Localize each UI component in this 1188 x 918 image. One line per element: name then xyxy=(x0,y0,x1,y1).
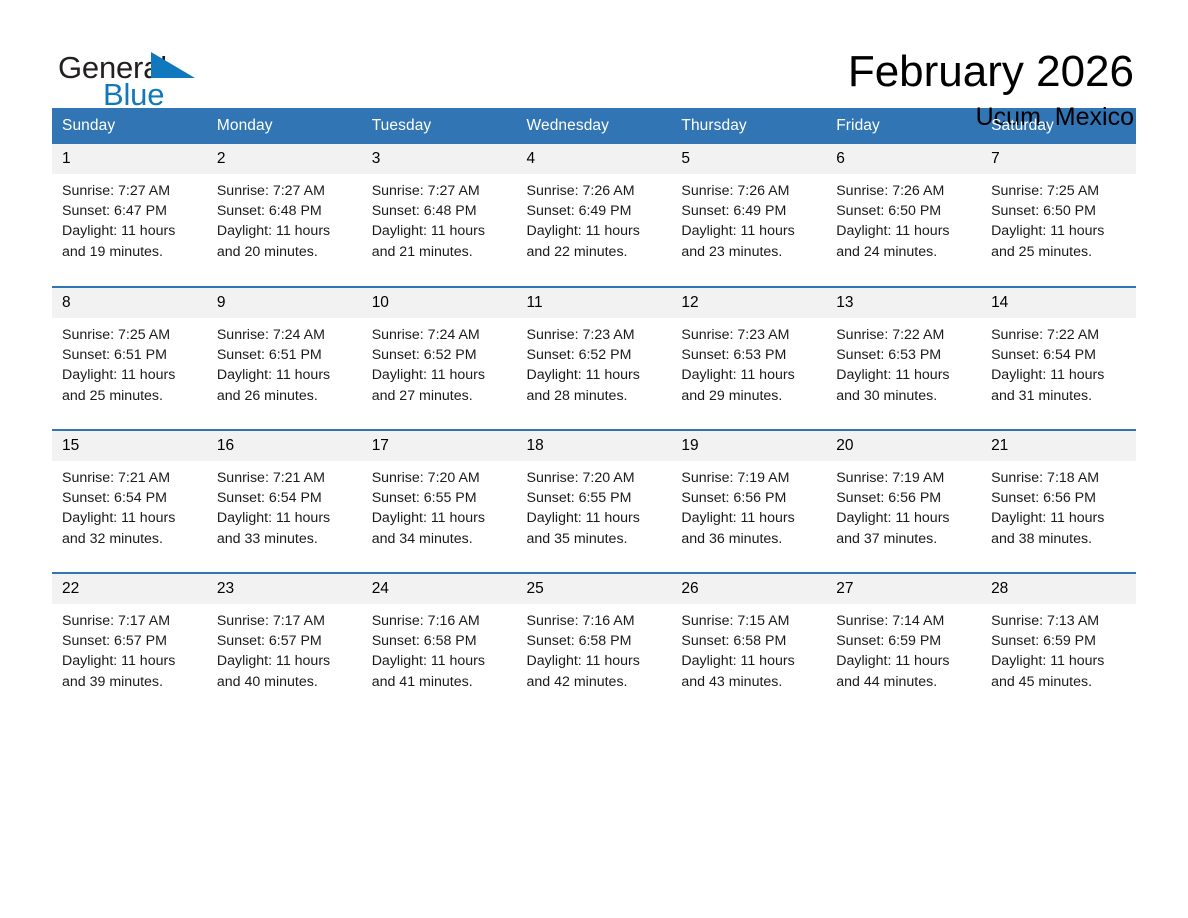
sunrise-text: Sunrise: 7:16 AM xyxy=(527,611,664,631)
daylight-text-line2: and 35 minutes. xyxy=(527,529,664,549)
day-cell[interactable]: 20 Sunrise: 7:19 AM Sunset: 6:56 PM Dayl… xyxy=(826,430,981,573)
sunset-text: Sunset: 6:48 PM xyxy=(372,201,509,221)
day-details: Sunrise: 7:27 AM Sunset: 6:48 PM Dayligh… xyxy=(207,174,362,262)
day-number: 21 xyxy=(981,431,1136,461)
day-cell[interactable]: 22 Sunrise: 7:17 AM Sunset: 6:57 PM Dayl… xyxy=(52,573,207,716)
day-details: Sunrise: 7:21 AM Sunset: 6:54 PM Dayligh… xyxy=(52,461,207,549)
sunrise-text: Sunrise: 7:22 AM xyxy=(836,325,973,345)
daylight-text-line1: Daylight: 11 hours xyxy=(527,221,664,241)
daylight-text-line2: and 31 minutes. xyxy=(991,386,1128,406)
sunrise-text: Sunrise: 7:17 AM xyxy=(217,611,354,631)
sunrise-text: Sunrise: 7:21 AM xyxy=(217,468,354,488)
daylight-text-line1: Daylight: 11 hours xyxy=(217,365,354,385)
day-number: 15 xyxy=(52,431,207,461)
day-details: Sunrise: 7:26 AM Sunset: 6:49 PM Dayligh… xyxy=(517,174,672,262)
day-cell[interactable]: 4 Sunrise: 7:26 AM Sunset: 6:49 PM Dayli… xyxy=(517,144,672,287)
day-details: Sunrise: 7:19 AM Sunset: 6:56 PM Dayligh… xyxy=(671,461,826,549)
sunset-text: Sunset: 6:55 PM xyxy=(372,488,509,508)
daylight-text-line2: and 40 minutes. xyxy=(217,672,354,692)
sunset-text: Sunset: 6:54 PM xyxy=(62,488,199,508)
sunrise-text: Sunrise: 7:25 AM xyxy=(62,325,199,345)
day-number: 6 xyxy=(826,144,981,174)
daylight-text-line2: and 25 minutes. xyxy=(991,242,1128,262)
day-number: 10 xyxy=(362,288,517,318)
sunset-text: Sunset: 6:57 PM xyxy=(217,631,354,651)
day-details: Sunrise: 7:20 AM Sunset: 6:55 PM Dayligh… xyxy=(517,461,672,549)
daylight-text-line1: Daylight: 11 hours xyxy=(836,365,973,385)
sunrise-text: Sunrise: 7:26 AM xyxy=(836,181,973,201)
day-details: Sunrise: 7:23 AM Sunset: 6:53 PM Dayligh… xyxy=(671,318,826,406)
day-cell[interactable]: 12 Sunrise: 7:23 AM Sunset: 6:53 PM Dayl… xyxy=(671,287,826,430)
sunset-text: Sunset: 6:56 PM xyxy=(836,488,973,508)
sunset-text: Sunset: 6:53 PM xyxy=(681,345,818,365)
sunrise-text: Sunrise: 7:24 AM xyxy=(372,325,509,345)
daylight-text-line2: and 21 minutes. xyxy=(372,242,509,262)
day-details: Sunrise: 7:17 AM Sunset: 6:57 PM Dayligh… xyxy=(52,604,207,692)
sunset-text: Sunset: 6:56 PM xyxy=(991,488,1128,508)
daylight-text-line1: Daylight: 11 hours xyxy=(991,651,1128,671)
day-cell[interactable]: 6 Sunrise: 7:26 AM Sunset: 6:50 PM Dayli… xyxy=(826,144,981,287)
sunrise-text: Sunrise: 7:26 AM xyxy=(681,181,818,201)
daylight-text-line2: and 24 minutes. xyxy=(836,242,973,262)
day-number: 13 xyxy=(826,288,981,318)
day-number: 26 xyxy=(671,574,826,604)
day-cell[interactable]: 13 Sunrise: 7:22 AM Sunset: 6:53 PM Dayl… xyxy=(826,287,981,430)
daylight-text-line1: Daylight: 11 hours xyxy=(62,221,199,241)
day-number: 24 xyxy=(362,574,517,604)
sunrise-text: Sunrise: 7:27 AM xyxy=(372,181,509,201)
daylight-text-line2: and 19 minutes. xyxy=(62,242,199,262)
day-details: Sunrise: 7:22 AM Sunset: 6:54 PM Dayligh… xyxy=(981,318,1136,406)
sunrise-text: Sunrise: 7:18 AM xyxy=(991,468,1128,488)
sunset-text: Sunset: 6:49 PM xyxy=(527,201,664,221)
daylight-text-line1: Daylight: 11 hours xyxy=(372,508,509,528)
day-cell[interactable]: 17 Sunrise: 7:20 AM Sunset: 6:55 PM Dayl… xyxy=(362,430,517,573)
daylight-text-line1: Daylight: 11 hours xyxy=(372,365,509,385)
day-cell[interactable]: 26 Sunrise: 7:15 AM Sunset: 6:58 PM Dayl… xyxy=(671,573,826,716)
day-details: Sunrise: 7:20 AM Sunset: 6:55 PM Dayligh… xyxy=(362,461,517,549)
day-cell[interactable]: 5 Sunrise: 7:26 AM Sunset: 6:49 PM Dayli… xyxy=(671,144,826,287)
page-masthead: General Blue February 2026 Ucum, Mexico xyxy=(52,0,1136,96)
daylight-text-line2: and 25 minutes. xyxy=(62,386,199,406)
daylight-text-line1: Daylight: 11 hours xyxy=(991,365,1128,385)
day-number: 14 xyxy=(981,288,1136,318)
sunrise-text: Sunrise: 7:21 AM xyxy=(62,468,199,488)
sunrise-text: Sunrise: 7:24 AM xyxy=(217,325,354,345)
sunset-text: Sunset: 6:47 PM xyxy=(62,201,199,221)
daylight-text-line2: and 26 minutes. xyxy=(217,386,354,406)
day-details: Sunrise: 7:24 AM Sunset: 6:51 PM Dayligh… xyxy=(207,318,362,406)
daylight-text-line1: Daylight: 11 hours xyxy=(527,651,664,671)
sunrise-text: Sunrise: 7:26 AM xyxy=(527,181,664,201)
day-cell[interactable]: 3 Sunrise: 7:27 AM Sunset: 6:48 PM Dayli… xyxy=(362,144,517,287)
daylight-text-line2: and 41 minutes. xyxy=(372,672,509,692)
day-details: Sunrise: 7:27 AM Sunset: 6:47 PM Dayligh… xyxy=(52,174,207,262)
day-number: 28 xyxy=(981,574,1136,604)
day-details: Sunrise: 7:26 AM Sunset: 6:49 PM Dayligh… xyxy=(671,174,826,262)
day-cell[interactable]: 28 Sunrise: 7:13 AM Sunset: 6:59 PM Dayl… xyxy=(981,573,1136,716)
day-number: 17 xyxy=(362,431,517,461)
daylight-text-line1: Daylight: 11 hours xyxy=(836,651,973,671)
day-details: Sunrise: 7:16 AM Sunset: 6:58 PM Dayligh… xyxy=(517,604,672,692)
sunset-text: Sunset: 6:55 PM xyxy=(527,488,664,508)
day-details: Sunrise: 7:13 AM Sunset: 6:59 PM Dayligh… xyxy=(981,604,1136,692)
day-number: 25 xyxy=(517,574,672,604)
daylight-text-line1: Daylight: 11 hours xyxy=(681,508,818,528)
day-details: Sunrise: 7:24 AM Sunset: 6:52 PM Dayligh… xyxy=(362,318,517,406)
day-number: 16 xyxy=(207,431,362,461)
daylight-text-line1: Daylight: 11 hours xyxy=(836,508,973,528)
daylight-text-line2: and 34 minutes. xyxy=(372,529,509,549)
day-cell[interactable]: 15 Sunrise: 7:21 AM Sunset: 6:54 PM Dayl… xyxy=(52,430,207,573)
day-number: 11 xyxy=(517,288,672,318)
calendar-week-row: 8 Sunrise: 7:25 AM Sunset: 6:51 PM Dayli… xyxy=(52,287,1136,430)
daylight-text-line2: and 36 minutes. xyxy=(681,529,818,549)
daylight-text-line1: Daylight: 11 hours xyxy=(372,651,509,671)
daylight-text-line2: and 32 minutes. xyxy=(62,529,199,549)
daylight-text-line2: and 42 minutes. xyxy=(527,672,664,692)
day-cell[interactable]: 18 Sunrise: 7:20 AM Sunset: 6:55 PM Dayl… xyxy=(517,430,672,573)
sunset-text: Sunset: 6:51 PM xyxy=(217,345,354,365)
day-number: 8 xyxy=(52,288,207,318)
sunset-text: Sunset: 6:50 PM xyxy=(836,201,973,221)
sunset-text: Sunset: 6:52 PM xyxy=(372,345,509,365)
daylight-text-line1: Daylight: 11 hours xyxy=(217,221,354,241)
sunrise-text: Sunrise: 7:25 AM xyxy=(991,181,1128,201)
day-number: 12 xyxy=(671,288,826,318)
day-number: 1 xyxy=(52,144,207,174)
daylight-text-line2: and 33 minutes. xyxy=(217,529,354,549)
daylight-text-line2: and 27 minutes. xyxy=(372,386,509,406)
day-cell[interactable]: 24 Sunrise: 7:16 AM Sunset: 6:58 PM Dayl… xyxy=(362,573,517,716)
day-details: Sunrise: 7:21 AM Sunset: 6:54 PM Dayligh… xyxy=(207,461,362,549)
day-details: Sunrise: 7:14 AM Sunset: 6:59 PM Dayligh… xyxy=(826,604,981,692)
daylight-text-line1: Daylight: 11 hours xyxy=(991,221,1128,241)
daylight-text-line2: and 43 minutes. xyxy=(681,672,818,692)
day-cell[interactable]: 27 Sunrise: 7:14 AM Sunset: 6:59 PM Dayl… xyxy=(826,573,981,716)
sunset-text: Sunset: 6:58 PM xyxy=(372,631,509,651)
weekday-header-wednesday: Wednesday xyxy=(517,108,672,144)
daylight-text-line1: Daylight: 11 hours xyxy=(836,221,973,241)
sunrise-text: Sunrise: 7:19 AM xyxy=(836,468,973,488)
sunset-text: Sunset: 6:58 PM xyxy=(681,631,818,651)
sunset-text: Sunset: 6:58 PM xyxy=(527,631,664,651)
sunrise-text: Sunrise: 7:14 AM xyxy=(836,611,973,631)
sunset-text: Sunset: 6:59 PM xyxy=(991,631,1128,651)
calendar-week-row: 22 Sunrise: 7:17 AM Sunset: 6:57 PM Dayl… xyxy=(52,573,1136,716)
sunset-text: Sunset: 6:49 PM xyxy=(681,201,818,221)
weekday-header-monday: Monday xyxy=(207,108,362,144)
logo-word-blue: Blue xyxy=(103,79,164,110)
sunset-text: Sunset: 6:54 PM xyxy=(217,488,354,508)
daylight-text-line2: and 23 minutes. xyxy=(681,242,818,262)
sunset-text: Sunset: 6:48 PM xyxy=(217,201,354,221)
triangle-flag-icon xyxy=(151,52,195,78)
day-details: Sunrise: 7:25 AM Sunset: 6:51 PM Dayligh… xyxy=(52,318,207,406)
page-title: February 2026 xyxy=(848,46,1134,98)
daylight-text-line2: and 44 minutes. xyxy=(836,672,973,692)
daylight-text-line2: and 37 minutes. xyxy=(836,529,973,549)
weekday-header-thursday: Thursday xyxy=(671,108,826,144)
daylight-text-line2: and 30 minutes. xyxy=(836,386,973,406)
day-number: 4 xyxy=(517,144,672,174)
day-details: Sunrise: 7:22 AM Sunset: 6:53 PM Dayligh… xyxy=(826,318,981,406)
sunrise-text: Sunrise: 7:13 AM xyxy=(991,611,1128,631)
daylight-text-line2: and 38 minutes. xyxy=(991,529,1128,549)
daylight-text-line1: Daylight: 11 hours xyxy=(62,508,199,528)
daylight-text-line2: and 28 minutes. xyxy=(527,386,664,406)
sunset-text: Sunset: 6:51 PM xyxy=(62,345,199,365)
day-number: 9 xyxy=(207,288,362,318)
day-cell[interactable]: 14 Sunrise: 7:22 AM Sunset: 6:54 PM Dayl… xyxy=(981,287,1136,430)
sunset-text: Sunset: 6:53 PM xyxy=(836,345,973,365)
sunrise-sunset-calendar: Sunday Monday Tuesday Wednesday Thursday… xyxy=(52,108,1136,716)
daylight-text-line1: Daylight: 11 hours xyxy=(527,365,664,385)
day-cell[interactable]: 9 Sunrise: 7:24 AM Sunset: 6:51 PM Dayli… xyxy=(207,287,362,430)
sunrise-text: Sunrise: 7:15 AM xyxy=(681,611,818,631)
day-cell[interactable]: 7 Sunrise: 7:25 AM Sunset: 6:50 PM Dayli… xyxy=(981,144,1136,287)
sunset-text: Sunset: 6:59 PM xyxy=(836,631,973,651)
sunrise-text: Sunrise: 7:17 AM xyxy=(62,611,199,631)
daylight-text-line2: and 29 minutes. xyxy=(681,386,818,406)
day-number: 7 xyxy=(981,144,1136,174)
sunrise-text: Sunrise: 7:27 AM xyxy=(217,181,354,201)
calendar-week-row: 15 Sunrise: 7:21 AM Sunset: 6:54 PM Dayl… xyxy=(52,430,1136,573)
day-number: 20 xyxy=(826,431,981,461)
day-cell[interactable]: 21 Sunrise: 7:18 AM Sunset: 6:56 PM Dayl… xyxy=(981,430,1136,573)
daylight-text-line1: Daylight: 11 hours xyxy=(217,651,354,671)
daylight-text-line1: Daylight: 11 hours xyxy=(991,508,1128,528)
calendar-week-row: 1 Sunrise: 7:27 AM Sunset: 6:47 PM Dayli… xyxy=(52,144,1136,287)
day-number: 27 xyxy=(826,574,981,604)
day-details: Sunrise: 7:26 AM Sunset: 6:50 PM Dayligh… xyxy=(826,174,981,262)
daylight-text-line2: and 20 minutes. xyxy=(217,242,354,262)
day-number: 22 xyxy=(52,574,207,604)
day-cell[interactable]: 8 Sunrise: 7:25 AM Sunset: 6:51 PM Dayli… xyxy=(52,287,207,430)
day-details: Sunrise: 7:15 AM Sunset: 6:58 PM Dayligh… xyxy=(671,604,826,692)
daylight-text-line1: Daylight: 11 hours xyxy=(681,365,818,385)
calendar-page: General Blue February 2026 Ucum, Mexico … xyxy=(0,0,1188,918)
day-cell[interactable]: 10 Sunrise: 7:24 AM Sunset: 6:52 PM Dayl… xyxy=(362,287,517,430)
sunrise-text: Sunrise: 7:20 AM xyxy=(527,468,664,488)
sunset-text: Sunset: 6:52 PM xyxy=(527,345,664,365)
day-cell[interactable]: 25 Sunrise: 7:16 AM Sunset: 6:58 PM Dayl… xyxy=(517,573,672,716)
day-number: 2 xyxy=(207,144,362,174)
sunset-text: Sunset: 6:57 PM xyxy=(62,631,199,651)
day-number: 23 xyxy=(207,574,362,604)
daylight-text-line1: Daylight: 11 hours xyxy=(681,651,818,671)
generalblue-logo[interactable]: General Blue xyxy=(52,46,202,116)
daylight-text-line2: and 22 minutes. xyxy=(527,242,664,262)
sunset-text: Sunset: 6:50 PM xyxy=(991,201,1128,221)
day-cell[interactable]: 19 Sunrise: 7:19 AM Sunset: 6:56 PM Dayl… xyxy=(671,430,826,573)
daylight-text-line1: Daylight: 11 hours xyxy=(527,508,664,528)
daylight-text-line1: Daylight: 11 hours xyxy=(217,508,354,528)
daylight-text-line1: Daylight: 11 hours xyxy=(62,365,199,385)
day-number: 19 xyxy=(671,431,826,461)
day-number: 18 xyxy=(517,431,672,461)
day-details: Sunrise: 7:27 AM Sunset: 6:48 PM Dayligh… xyxy=(362,174,517,262)
day-cell[interactable]: 11 Sunrise: 7:23 AM Sunset: 6:52 PM Dayl… xyxy=(517,287,672,430)
day-details: Sunrise: 7:19 AM Sunset: 6:56 PM Dayligh… xyxy=(826,461,981,549)
sunrise-text: Sunrise: 7:27 AM xyxy=(62,181,199,201)
day-details: Sunrise: 7:25 AM Sunset: 6:50 PM Dayligh… xyxy=(981,174,1136,262)
day-details: Sunrise: 7:17 AM Sunset: 6:57 PM Dayligh… xyxy=(207,604,362,692)
sunset-text: Sunset: 6:56 PM xyxy=(681,488,818,508)
sunrise-text: Sunrise: 7:20 AM xyxy=(372,468,509,488)
day-number: 5 xyxy=(671,144,826,174)
day-details: Sunrise: 7:16 AM Sunset: 6:58 PM Dayligh… xyxy=(362,604,517,692)
sunrise-text: Sunrise: 7:22 AM xyxy=(991,325,1128,345)
day-cell[interactable]: 23 Sunrise: 7:17 AM Sunset: 6:57 PM Dayl… xyxy=(207,573,362,716)
sunrise-text: Sunrise: 7:23 AM xyxy=(681,325,818,345)
daylight-text-line2: and 45 minutes. xyxy=(991,672,1128,692)
day-cell[interactable]: 1 Sunrise: 7:27 AM Sunset: 6:47 PM Dayli… xyxy=(52,144,207,287)
sunset-text: Sunset: 6:54 PM xyxy=(991,345,1128,365)
daylight-text-line2: and 39 minutes. xyxy=(62,672,199,692)
day-cell[interactable]: 16 Sunrise: 7:21 AM Sunset: 6:54 PM Dayl… xyxy=(207,430,362,573)
sunrise-text: Sunrise: 7:19 AM xyxy=(681,468,818,488)
day-details: Sunrise: 7:18 AM Sunset: 6:56 PM Dayligh… xyxy=(981,461,1136,549)
daylight-text-line1: Daylight: 11 hours xyxy=(62,651,199,671)
sunrise-text: Sunrise: 7:23 AM xyxy=(527,325,664,345)
day-cell[interactable]: 2 Sunrise: 7:27 AM Sunset: 6:48 PM Dayli… xyxy=(207,144,362,287)
day-details: Sunrise: 7:23 AM Sunset: 6:52 PM Dayligh… xyxy=(517,318,672,406)
daylight-text-line1: Daylight: 11 hours xyxy=(681,221,818,241)
daylight-text-line1: Daylight: 11 hours xyxy=(372,221,509,241)
weekday-header-tuesday: Tuesday xyxy=(362,108,517,144)
sunrise-text: Sunrise: 7:16 AM xyxy=(372,611,509,631)
day-number: 3 xyxy=(362,144,517,174)
calendar-body: 1 Sunrise: 7:27 AM Sunset: 6:47 PM Dayli… xyxy=(52,144,1136,716)
